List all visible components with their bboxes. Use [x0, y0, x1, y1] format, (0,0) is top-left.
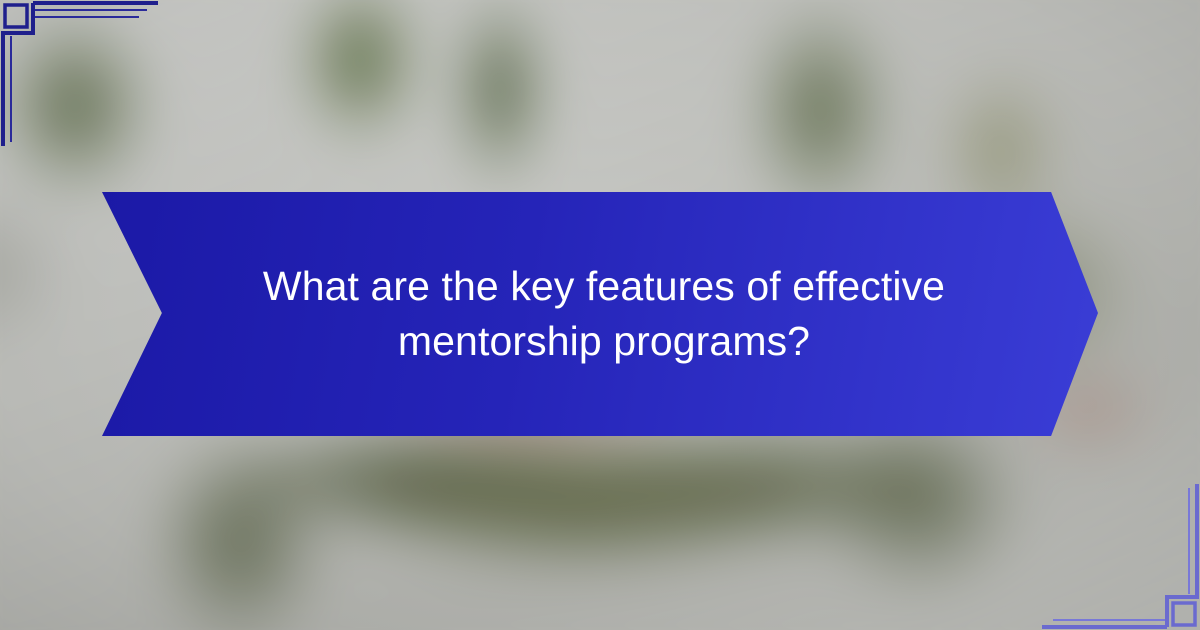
- screenshot-canvas: What are the key features of effective m…: [0, 0, 1200, 630]
- banner-title: What are the key features of effective m…: [244, 259, 964, 368]
- question-banner: What are the key features of effective m…: [100, 192, 1098, 436]
